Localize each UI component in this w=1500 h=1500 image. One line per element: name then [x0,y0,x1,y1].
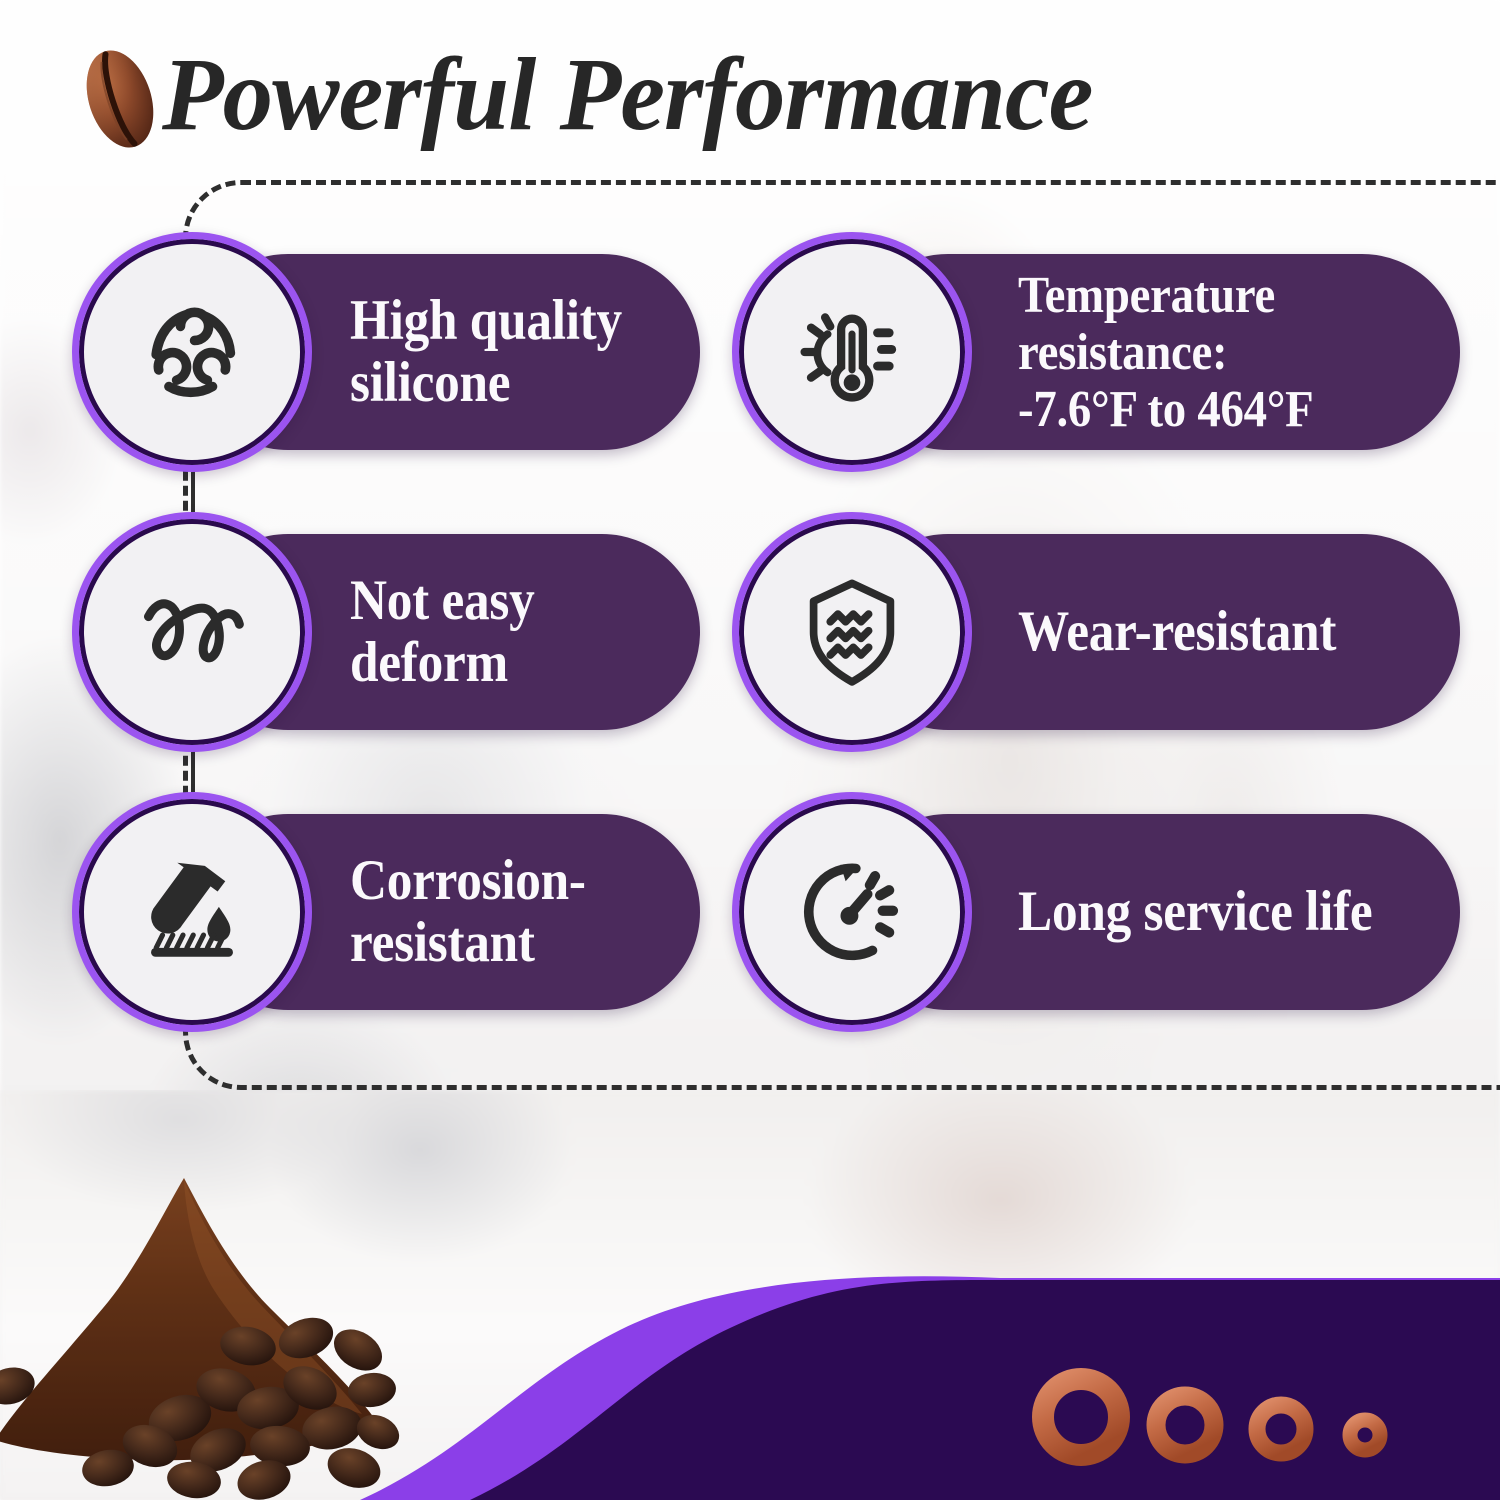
thermometer-sun-icon [732,232,972,472]
shield-waves-icon [732,512,972,752]
test-tube-drop-icon [72,792,312,1032]
feature-label: Wear-resistant [1018,601,1336,663]
oring-smallest [1350,1420,1380,1450]
recycle-cycle-icon [72,232,312,472]
feature-temperature-resistance[interactable]: Temperature resistance: -7.6°F to 464°F [732,232,1460,472]
connector-dash [191,750,195,792]
feature-label: Temperature resistance: -7.6°F to 464°F [1018,267,1313,438]
oring-size-row [1025,1355,1445,1485]
feature-high-quality-silicone[interactable]: High quality silicone [72,232,700,472]
feature-label: High quality silicone [350,290,622,414]
feature-not-easy-deform[interactable]: Not easy deform [72,512,700,752]
coffee-grounds-and-beans-image [0,1150,540,1500]
elastic-wave-icon [72,512,312,752]
oring-medium [1043,1379,1119,1455]
feature-corrosion-resistant[interactable]: Corrosion- resistant [72,792,700,1032]
speedometer-timer-icon [732,792,972,1032]
feature-label: Long service life [1018,881,1372,943]
feature-wear-resistant[interactable]: Wear-resistant [732,512,1460,752]
feature-label: Corrosion- resistant [350,850,586,974]
feature-long-service-life[interactable]: Long service life [732,792,1460,1032]
oring-small [1156,1396,1214,1454]
connector-dash [191,470,195,512]
oring-smaller [1257,1405,1305,1453]
feature-label: Not easy deform [350,570,534,694]
